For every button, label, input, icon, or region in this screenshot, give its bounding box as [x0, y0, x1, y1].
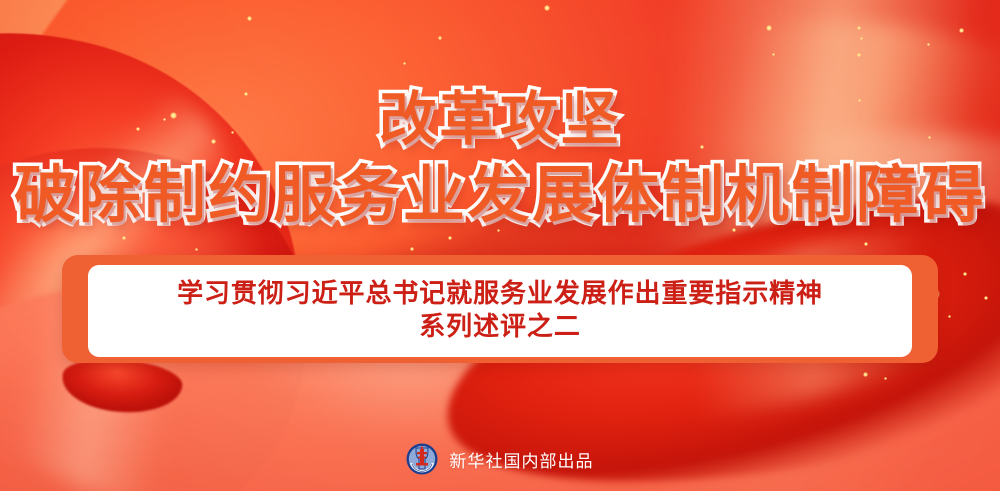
- subtitle-line-2: 系列述评之二: [419, 312, 580, 343]
- poster-canvas: 改革攻坚 破除制约服务业发展体制机制障碍 学习贯彻习近平总书记就服务业发展作出重…: [0, 0, 1000, 491]
- headline-block: 改革攻坚 破除制约服务业发展体制机制障碍: [0, 90, 1000, 226]
- subtitle-frame: 学习贯彻习近平总书记就服务业发展作出重要指示精神 系列述评之二: [62, 255, 938, 363]
- headline-line-2: 破除制约服务业发展体制机制障碍: [0, 164, 1000, 226]
- footer-credit: 新华社国内部出品: [0, 443, 1000, 475]
- subtitle-card: 学习贯彻习近平总书记就服务业发展作出重要指示精神 系列述评之二: [88, 265, 912, 357]
- footer-credit-text: 新华社国内部出品: [449, 447, 593, 472]
- headline-line-1: 改革攻坚: [0, 90, 1000, 148]
- xinhua-emblem-icon: [406, 443, 438, 475]
- subtitle-line-1: 学习贯彻习近平总书记就服务业发展作出重要指示精神: [177, 279, 823, 310]
